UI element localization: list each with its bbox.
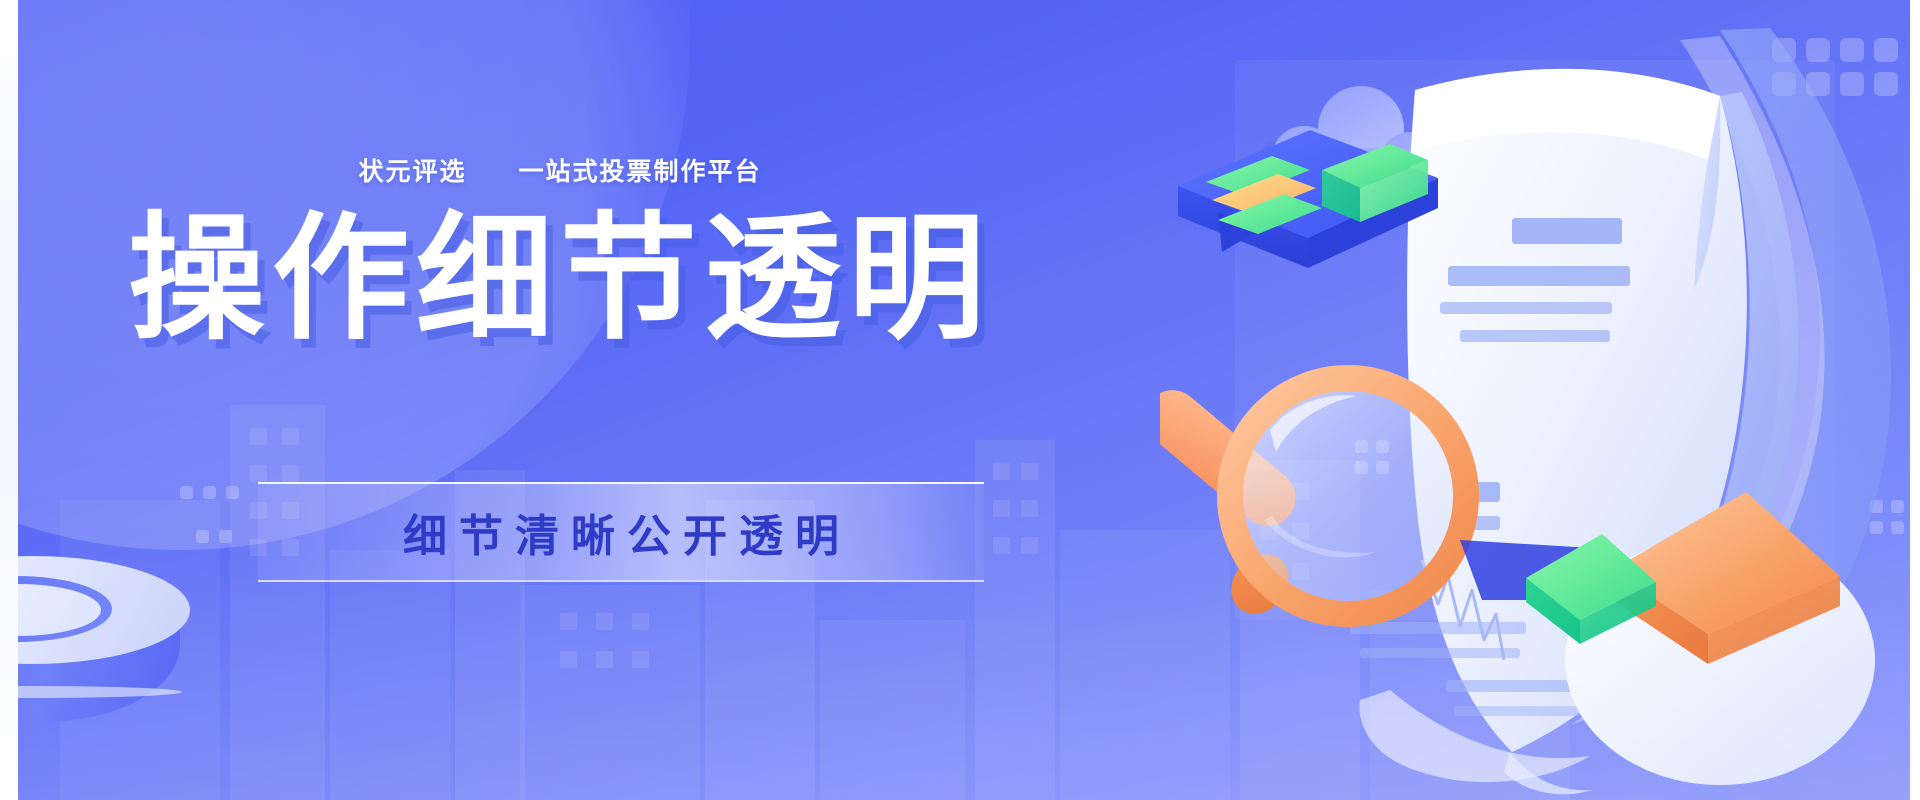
eyebrow-left-text: 状元评选 <box>359 158 467 186</box>
banner-eyebrow: 状元评选 一站式投票制作平台 <box>0 152 1120 188</box>
magnifying-glass-icon <box>1160 378 1466 625</box>
banner-tagline: 细节清晰公开透明 <box>258 484 984 580</box>
banner-text-block: 状元评选 一站式投票制作平台 操作细节透明 细节清晰公开透明 <box>0 0 1120 800</box>
right-edge-strip <box>1910 0 1920 800</box>
banner-tagline-block: 细节清晰公开透明 <box>258 482 984 582</box>
banner-headline: 操作细节透明 <box>0 196 1120 363</box>
tagline-rule-bottom <box>258 580 984 582</box>
magnifier-document-chart-illustration <box>1160 0 1920 800</box>
eyebrow-right-text: 一站式投票制作平台 <box>518 158 761 186</box>
promo-banner: 状元评选 一站式投票制作平台 操作细节透明 细节清晰公开透明 <box>0 0 1920 800</box>
tagline-band: 细节清晰公开透明 <box>258 484 984 580</box>
left-edge-strip <box>0 0 18 800</box>
